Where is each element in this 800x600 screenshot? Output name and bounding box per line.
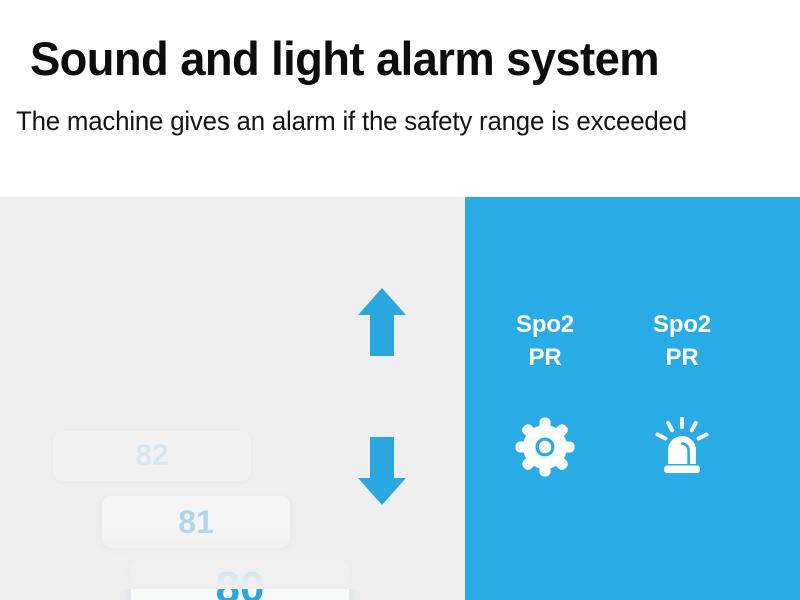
header-section: Sound and light alarm system The machine… bbox=[0, 0, 800, 197]
settings-label-spo2: Spo2 bbox=[485, 308, 605, 341]
picker-option-label: 81 bbox=[178, 506, 214, 538]
alarm-siren-icon[interactable] bbox=[622, 416, 742, 478]
picker-selected-value: 80 bbox=[216, 566, 265, 600]
alarm-label-spo2: Spo2 bbox=[622, 308, 742, 341]
page-subtitle: The machine gives an alarm if the safety… bbox=[16, 106, 687, 138]
alarm-column[interactable]: Spo2 PR bbox=[622, 308, 742, 478]
picker-option-82[interactable]: 82 bbox=[52, 430, 252, 482]
picker-panel: 82 81 80 79 78 bbox=[0, 197, 465, 600]
alarm-label-pr: PR bbox=[622, 341, 742, 374]
page-title: Sound and light alarm system bbox=[30, 33, 659, 86]
settings-column[interactable]: Spo2 PR bbox=[485, 308, 605, 478]
picker-option-selected[interactable]: 80 bbox=[130, 559, 350, 600]
alarm-threshold-picker[interactable]: 82 81 80 79 78 bbox=[0, 197, 360, 600]
gear-icon[interactable] bbox=[485, 416, 605, 478]
settings-label-pr: PR bbox=[485, 341, 605, 374]
arrow-down-icon[interactable] bbox=[357, 436, 407, 506]
picker-option-81[interactable]: 81 bbox=[101, 495, 291, 549]
arrow-up-icon[interactable] bbox=[357, 287, 407, 357]
alarm-system-screen: Sound and light alarm system The machine… bbox=[0, 0, 800, 600]
picker-option-label: 82 bbox=[135, 441, 168, 471]
alarm-settings-panel: Spo2 PR bbox=[465, 197, 800, 600]
